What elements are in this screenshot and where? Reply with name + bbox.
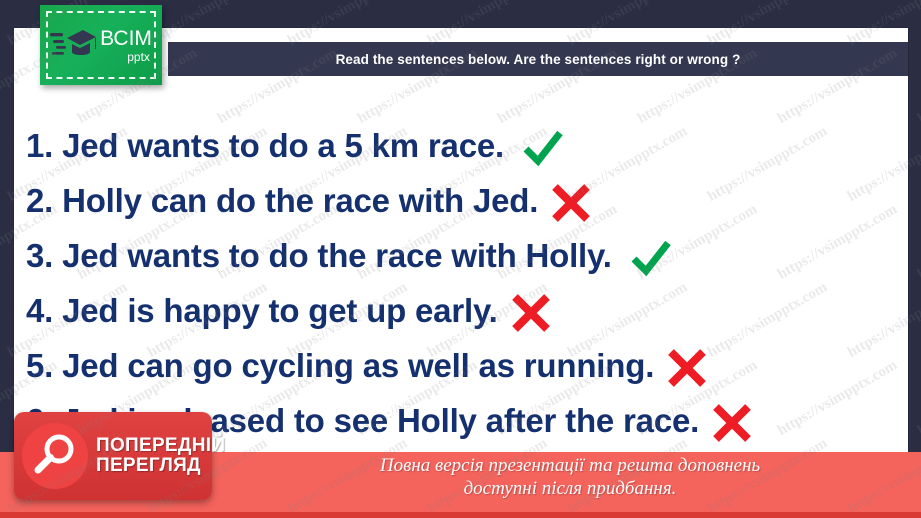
preview-badge: ПОПЕРЕДНІЙ ПЕРЕГЛЯД [14, 412, 212, 500]
watermark-text: https://vsimpptx.com [915, 201, 921, 283]
sentence-text: 2. Holly can do the race with Jed. [26, 184, 538, 217]
header-title-text: Read the sentences below. Are the senten… [336, 52, 741, 67]
sentence-text: 4. Jed is happy to get up early. [26, 294, 498, 327]
preview-badge-line-2: ПЕРЕГЛЯД [96, 456, 225, 476]
footer-line-1: Повна версія презентації та решта доповн… [220, 454, 920, 477]
footer-message: Повна версія презентації та решта доповн… [220, 454, 920, 500]
header-title-bar: Read the sentences below. Are the senten… [168, 42, 908, 76]
footer-line-2: доступні після придбання. [220, 477, 920, 500]
cross-icon [508, 290, 554, 336]
cross-icon [548, 180, 594, 226]
graduation-cap-icon [50, 25, 96, 65]
sentence-text: 5. Jed can go cycling as well as running… [26, 349, 654, 382]
footer-accent-strip [0, 512, 921, 518]
preview-badge-line-1: ПОПЕРЕДНІЙ [96, 436, 225, 456]
magnifier-icon [22, 423, 88, 489]
watermark-text: https://vsimpptx.com [915, 45, 921, 127]
list-item: 5. Jed can go cycling as well as running… [26, 338, 906, 393]
watermark-text: https://vsimpptx.com [915, 357, 921, 439]
logo-title: ВСІМ [100, 28, 152, 49]
list-item: 2. Holly can do the race with Jed. [26, 173, 906, 228]
list-item: 1. Jed wants to do a 5 km race. [26, 118, 906, 173]
sentence-list: 1. Jed wants to do a 5 km race. 2. Holly… [26, 118, 906, 448]
slide-canvas: ВСІМ pptx Read the sentences below. Are … [0, 0, 921, 518]
cross-icon [709, 400, 755, 446]
vsimpptx-logo: ВСІМ pptx [40, 5, 162, 85]
preview-badge-text: ПОПЕРЕДНІЙ ПЕРЕГЛЯД [96, 436, 225, 476]
sentence-text: 1. Jed wants to do a 5 km race. [26, 129, 504, 162]
cross-icon [664, 345, 710, 391]
check-icon [628, 235, 674, 281]
list-item: 3. Jed wants to do the race with Holly. [26, 228, 906, 283]
list-item: 4. Jed is happy to get up early. [26, 283, 906, 338]
check-icon [520, 125, 566, 171]
logo-subtitle: pptx [127, 51, 152, 63]
sentence-text: 3. Jed wants to do the race with Holly. [26, 239, 612, 272]
